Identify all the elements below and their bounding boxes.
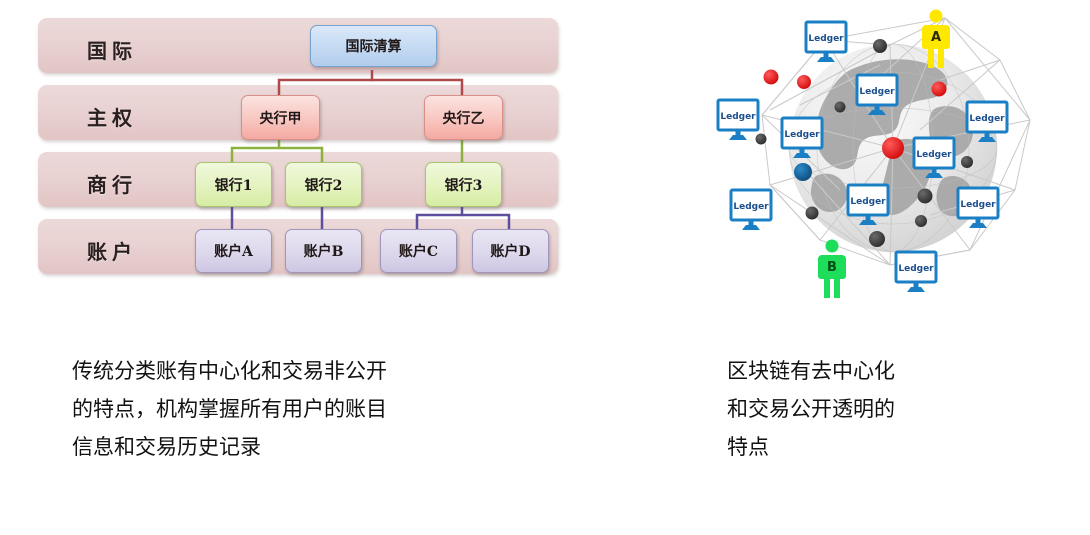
- node-dark-1: [873, 39, 887, 53]
- connector-clearing-to-cb-yi: [372, 80, 462, 95]
- node-dark-3: [756, 134, 767, 145]
- connector-cbjia-to-bank2: [279, 148, 322, 162]
- node-red-2: [797, 75, 811, 89]
- ledger-label: Ledger: [898, 264, 934, 274]
- blockchain-network-svg: Ledger Ledger Ledger Ledger: [700, 0, 1090, 300]
- connector-bank3-to-acctD: [462, 215, 509, 229]
- node-account-a[interactable]: 账户A: [195, 229, 272, 273]
- ledger-monitor-10[interactable]: Ledger: [896, 252, 936, 292]
- node-red-1: [764, 70, 779, 85]
- node-dark-2: [835, 102, 846, 113]
- ledger-label: Ledger: [733, 202, 769, 212]
- ledger-label: Ledger: [850, 197, 886, 207]
- person-b-label: B: [827, 260, 837, 275]
- node-dark-8: [869, 231, 885, 247]
- node-dark-5: [918, 189, 933, 204]
- node-central-bank-jia[interactable]: 央行甲: [241, 95, 320, 140]
- caption-traditional-ledger: 传统分类账有中心化和交易非公开 的特点，机构掌握所有用户的账目 信息和交易历史记…: [72, 352, 542, 466]
- ledger-label: Ledger: [960, 200, 996, 210]
- node-dark-7: [806, 207, 819, 220]
- node-account-b[interactable]: 账户B: [285, 229, 362, 273]
- node-account-c[interactable]: 账户C: [380, 229, 457, 273]
- ledger-label: Ledger: [808, 34, 844, 44]
- node-bank-1[interactable]: 银行1: [195, 162, 272, 207]
- node-international-clearing[interactable]: 国际清算: [310, 25, 437, 67]
- connector-cbjia-to-bank1: [232, 138, 279, 162]
- ledger-label: Ledger: [784, 130, 820, 140]
- connector-clearing-to-cb-jia: [279, 70, 372, 95]
- node-blue-1: [794, 163, 812, 181]
- caption-blockchain: 区块链有去中心化 和交易公开透明的 特点: [727, 352, 1027, 466]
- ledger-monitor-7[interactable]: Ledger: [731, 190, 771, 230]
- ledger-label: Ledger: [720, 112, 756, 122]
- node-dark-4: [961, 156, 973, 168]
- node-account-d[interactable]: 账户D: [472, 229, 549, 273]
- ledger-label: Ledger: [859, 87, 895, 97]
- node-center-red: [882, 137, 904, 159]
- ledger-monitor-3[interactable]: Ledger: [718, 100, 758, 140]
- person-a-label: A: [931, 30, 941, 45]
- node-central-bank-yi[interactable]: 央行乙: [424, 95, 503, 140]
- node-bank-2[interactable]: 银行2: [285, 162, 362, 207]
- ledger-label: Ledger: [969, 114, 1005, 124]
- blockchain-network-diagram: Ledger Ledger Ledger Ledger: [700, 0, 1090, 300]
- ledger-label: Ledger: [916, 150, 952, 160]
- connector-bank3-to-acctC: [417, 205, 462, 229]
- traditional-ledger-diagram: 国际 主权 商行 账户 国际清算 央行甲 央行乙 银行1 银行2 银行3 账户A…: [0, 0, 600, 310]
- node-red-3: [932, 82, 947, 97]
- node-bank-3[interactable]: 银行3: [425, 162, 502, 207]
- node-dark-6: [915, 215, 927, 227]
